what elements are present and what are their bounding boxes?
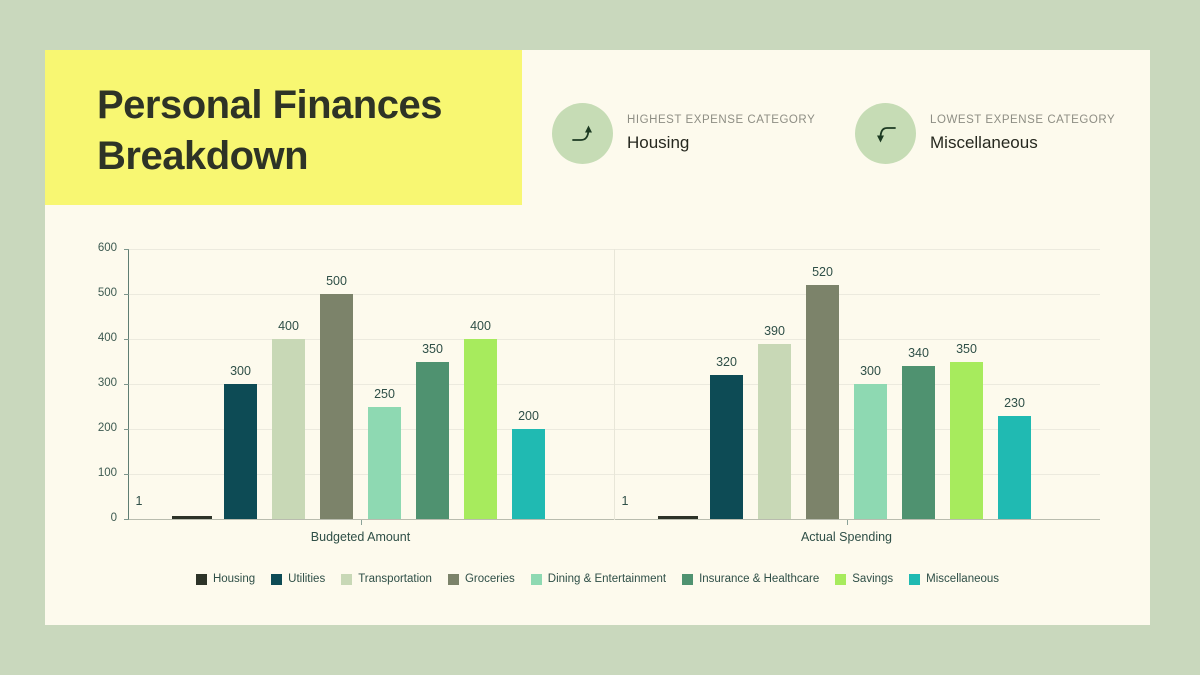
bar[interactable]	[416, 362, 449, 520]
y-axis-tick-mark	[124, 339, 129, 340]
legend-label: Housing	[213, 573, 255, 585]
bar[interactable]	[368, 407, 401, 520]
legend-item[interactable]: Miscellaneous	[909, 573, 999, 585]
bar-value-label: 300	[848, 364, 894, 378]
bar[interactable]	[272, 339, 305, 519]
bar-value-label: 320	[704, 355, 750, 369]
y-axis-tick-label: 0	[89, 512, 117, 526]
bar-value-label: 350	[944, 342, 990, 356]
y-axis-tick-mark	[124, 384, 129, 385]
x-axis-group-label: Budgeted Amount	[306, 530, 416, 546]
chart-legend: HousingUtilitiesTransportationGroceriesD…	[45, 573, 1150, 585]
bar[interactable]	[710, 375, 743, 519]
y-axis-tick-mark	[124, 249, 129, 250]
legend-swatch	[909, 574, 920, 585]
bar-value-label: 1	[602, 494, 648, 508]
bar-value-label: 1	[116, 494, 162, 508]
legend-swatch	[835, 574, 846, 585]
legend-swatch	[448, 574, 459, 585]
bar-value-label: 390	[752, 324, 798, 338]
page-title: Personal Finances Breakdown	[97, 80, 517, 182]
bar[interactable]	[950, 362, 983, 520]
y-axis-tick-label: 600	[89, 242, 117, 256]
x-axis-tick-mark	[361, 520, 362, 525]
group-divider	[614, 249, 615, 520]
legend-label: Groceries	[465, 573, 515, 585]
kpi-label: LOWEST EXPENSE CATEGORY	[930, 114, 1115, 126]
legend-swatch	[682, 574, 693, 585]
kpi-value: Housing	[627, 133, 815, 153]
y-axis-tick-mark	[124, 474, 129, 475]
arrow-trend-up-icon	[552, 103, 613, 164]
legend-item[interactable]: Dining & Entertainment	[531, 573, 666, 585]
bar[interactable]	[854, 384, 887, 519]
bar-value-label: 400	[458, 319, 504, 333]
legend-item[interactable]: Transportation	[341, 573, 432, 585]
bar-value-label: 340	[896, 346, 942, 360]
bar-value-label: 520	[800, 265, 846, 279]
bar[interactable]	[998, 416, 1031, 520]
bar-value-label: 230	[992, 396, 1038, 410]
y-axis-tick-label: 500	[89, 287, 117, 301]
kpi-highest-expense: HIGHEST EXPENSE CATEGORY Housing	[552, 103, 815, 164]
bar[interactable]	[758, 344, 791, 520]
y-axis-tick-label: 200	[89, 422, 117, 436]
bar-value-label: 300	[218, 364, 264, 378]
bar[interactable]	[464, 339, 497, 519]
y-axis-tick-label: 100	[89, 467, 117, 481]
bar[interactable]	[172, 516, 212, 519]
legend-swatch	[531, 574, 542, 585]
legend-item[interactable]: Groceries	[448, 573, 515, 585]
legend-item[interactable]: Savings	[835, 573, 893, 585]
legend-item[interactable]: Utilities	[271, 573, 325, 585]
bar[interactable]	[806, 285, 839, 519]
bar-value-label: 400	[266, 319, 312, 333]
legend-label: Utilities	[288, 573, 325, 585]
legend-item[interactable]: Housing	[196, 573, 255, 585]
legend-swatch	[341, 574, 352, 585]
legend-item[interactable]: Insurance & Healthcare	[682, 573, 819, 585]
bar-value-label: 200	[506, 409, 552, 423]
legend-label: Insurance & Healthcare	[699, 573, 819, 585]
kpi-lowest-expense: LOWEST EXPENSE CATEGORY Miscellaneous	[855, 103, 1115, 164]
y-axis-tick-label: 300	[89, 377, 117, 391]
y-axis-tick-mark	[124, 429, 129, 430]
legend-label: Dining & Entertainment	[548, 573, 666, 585]
legend-label: Miscellaneous	[926, 573, 999, 585]
bar-value-label: 350	[410, 342, 456, 356]
x-axis-group-label: Actual Spending	[792, 530, 902, 546]
arrow-trend-down-icon	[855, 103, 916, 164]
bar[interactable]	[512, 429, 545, 519]
bar-value-label: 500	[314, 274, 360, 288]
legend-swatch	[196, 574, 207, 585]
grouped-bar-chart: HousingUtilitiesTransportationGroceriesD…	[45, 240, 1150, 625]
kpi-label: HIGHEST EXPENSE CATEGORY	[627, 114, 815, 126]
legend-swatch	[271, 574, 282, 585]
legend-label: Transportation	[358, 573, 432, 585]
y-axis-tick-mark	[124, 519, 129, 520]
bar[interactable]	[320, 294, 353, 519]
bar[interactable]	[658, 516, 698, 519]
y-axis-tick-mark	[124, 294, 129, 295]
legend-label: Savings	[852, 573, 893, 585]
bar-value-label: 250	[362, 387, 408, 401]
title-block: Personal Finances Breakdown	[45, 50, 522, 205]
bar[interactable]	[224, 384, 257, 519]
dashboard-card: Personal Finances Breakdown HIGHEST EXPE…	[45, 50, 1150, 625]
bar[interactable]	[902, 366, 935, 519]
kpi-value: Miscellaneous	[930, 133, 1115, 153]
x-axis-tick-mark	[847, 520, 848, 525]
y-axis-tick-label: 400	[89, 332, 117, 346]
